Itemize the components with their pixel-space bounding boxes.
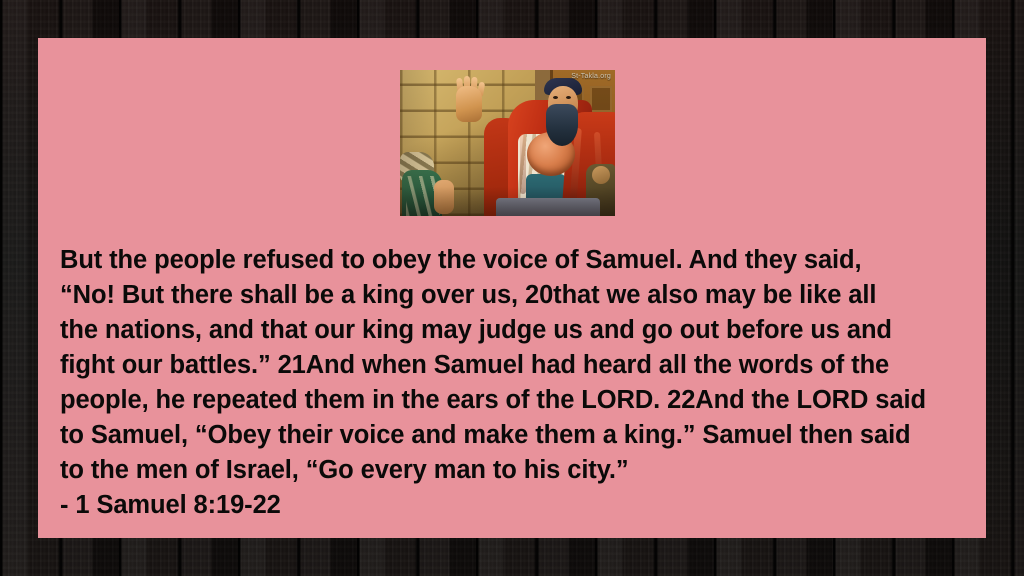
samuel-illustration: St-Takla.org: [400, 70, 615, 216]
scripture-line: to the men of Israel, “Go every man to h…: [60, 453, 975, 488]
scripture-line: But the people refused to obey the voice…: [60, 243, 975, 278]
illustration-vignette: [400, 70, 615, 216]
presentation-slide: St-Takla.org But the people refused to o…: [0, 0, 1024, 576]
slide-content-panel: St-Takla.org But the people refused to o…: [38, 38, 986, 538]
scripture-line: people, he repeated them in the ears of …: [60, 383, 975, 418]
scripture-text-block: But the people refused to obey the voice…: [60, 243, 975, 523]
scripture-line: fight our battles.” 21And when Samuel ha…: [60, 348, 975, 383]
scripture-line: to Samuel, “Obey their voice and make th…: [60, 418, 975, 453]
scripture-citation: - 1 Samuel 8:19-22: [60, 488, 975, 523]
scripture-line: the nations, and that our king may judge…: [60, 313, 975, 348]
watermark-text: St-Takla.org: [571, 73, 611, 80]
scripture-line: “No! But there shall be a king over us, …: [60, 278, 975, 313]
